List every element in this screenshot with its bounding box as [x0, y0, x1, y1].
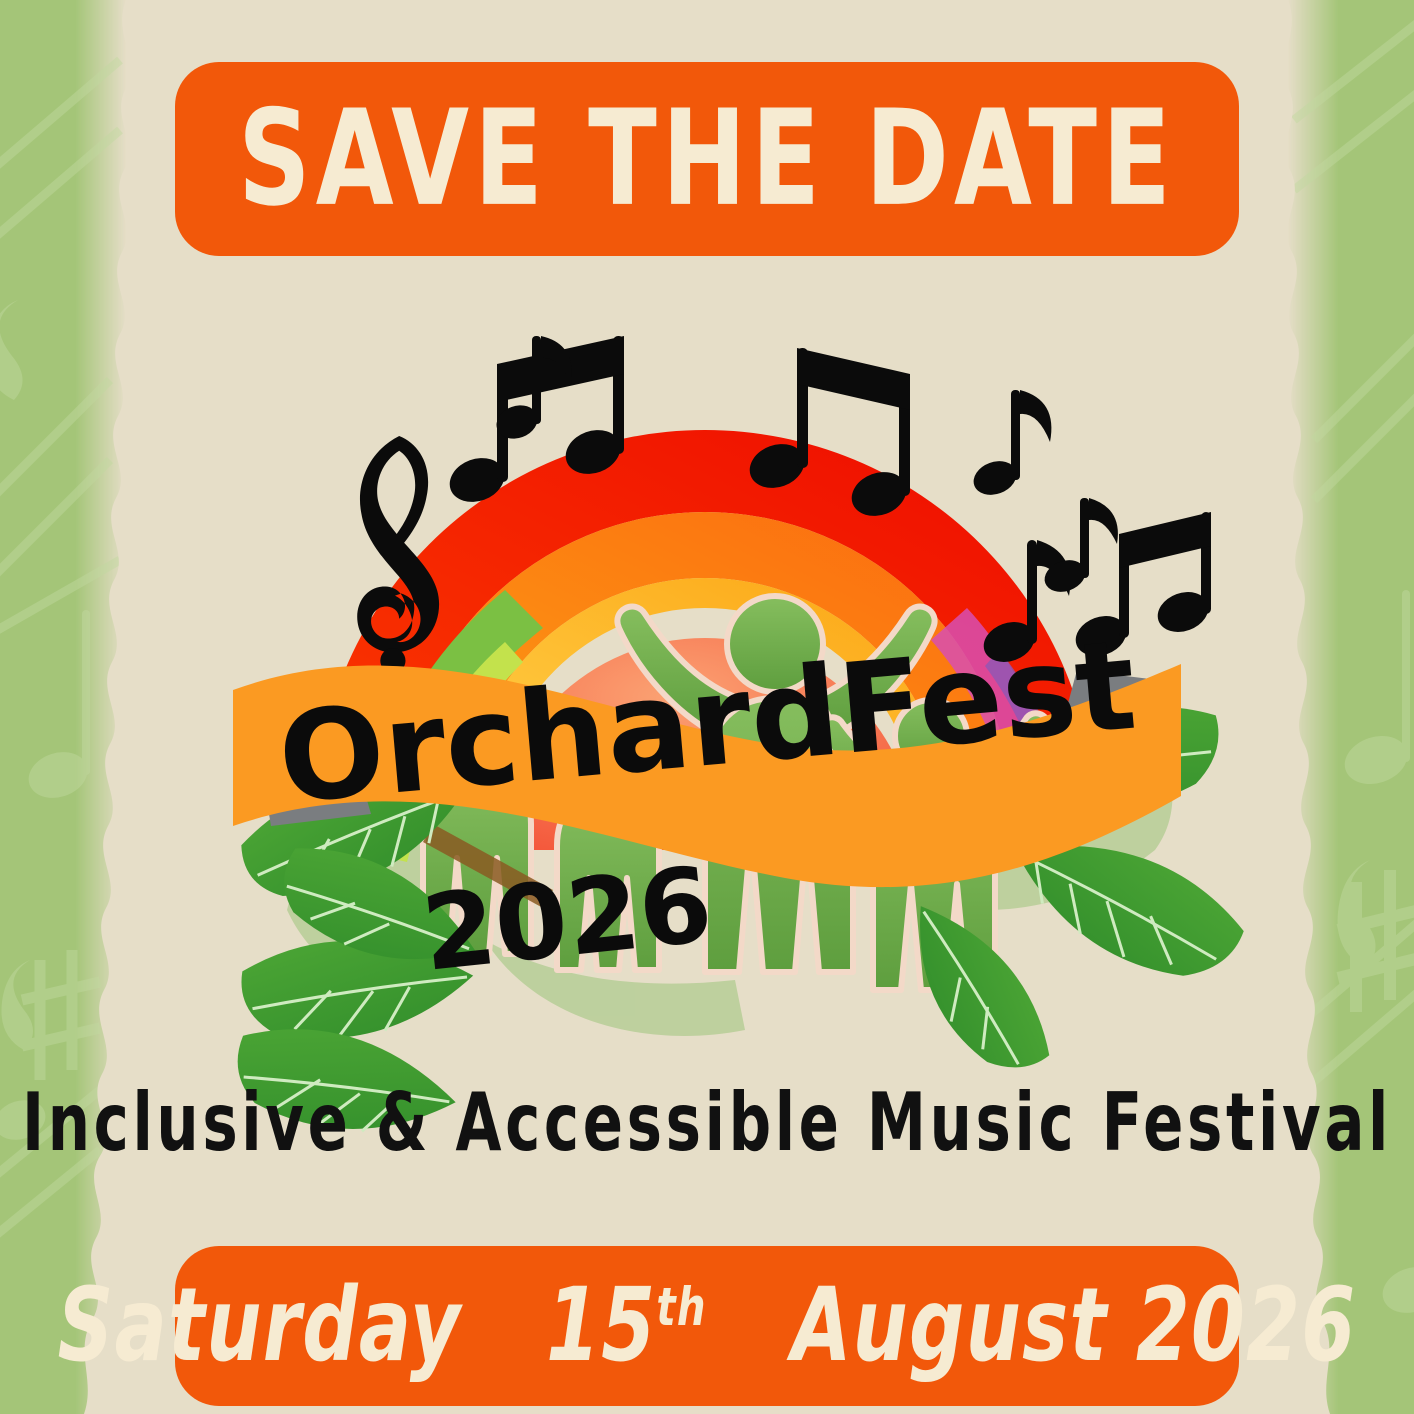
date-day: 15 [546, 1267, 656, 1385]
save-the-date-label: SAVE THE DATE [238, 93, 1176, 225]
date-spacer [490, 1267, 518, 1385]
date-spacer-2 [735, 1267, 763, 1385]
left-border-strip [0, 0, 130, 1414]
date-ordinal: th [656, 1276, 706, 1339]
right-border-strip [1284, 0, 1414, 1414]
date-label: Saturday 15th August 2026 [58, 1275, 1357, 1376]
date-banner: Saturday 15th August 2026 [175, 1246, 1239, 1406]
date-weekday: Saturday [58, 1267, 462, 1385]
right-torn-edge [1284, 0, 1414, 1414]
date-month-year: August 2026 [791, 1267, 1356, 1385]
poster: SAVE THE DATE [0, 0, 1414, 1414]
orchardfest-logo: OrchardFest 2026 [175, 290, 1239, 1050]
festival-tagline: Inclusive & Accessible Music Festival [0, 1076, 1414, 1170]
save-the-date-banner: SAVE THE DATE [175, 62, 1239, 256]
eighth-note-upper-right [969, 390, 1052, 501]
left-torn-edge [0, 0, 130, 1414]
